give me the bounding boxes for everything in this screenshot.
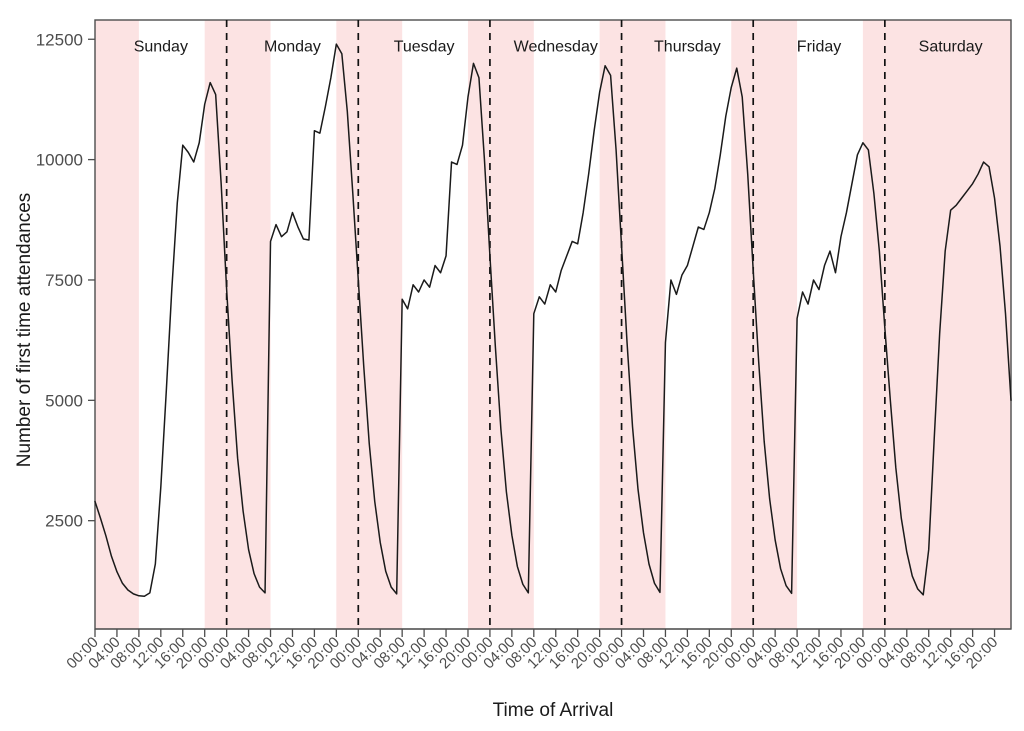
- night-shade-band: [336, 20, 402, 629]
- y-tick-label: 12500: [36, 30, 83, 49]
- y-tick-label: 10000: [36, 151, 83, 170]
- night-shade-band: [95, 20, 139, 629]
- night-shade-band: [205, 20, 271, 629]
- chart-svg: SundayMondayTuesdayWednesdayThursdayFrid…: [0, 0, 1024, 731]
- day-label: Thursday: [654, 38, 721, 55]
- y-axis-group: 2500500075001000012500: [36, 30, 95, 530]
- night-shade-band: [468, 20, 534, 629]
- x-axis-title: Time of Arrival: [493, 700, 614, 721]
- day-label: Wednesday: [514, 38, 598, 55]
- shaded-bands-group: [95, 20, 1011, 629]
- day-label: Tuesday: [394, 38, 455, 55]
- night-shade-band: [731, 20, 797, 629]
- night-shade-band: [600, 20, 666, 629]
- attendance-chart: SundayMondayTuesdayWednesdayThursdayFrid…: [0, 0, 1024, 731]
- y-axis-title: Number of first time attendances: [14, 193, 35, 468]
- x-axis-group: 00:0004:0008:0012:0016:0020:0000:0004:00…: [63, 629, 1011, 672]
- y-tick-label: 5000: [45, 391, 83, 410]
- day-label: Monday: [264, 38, 321, 55]
- day-label: Sunday: [134, 38, 188, 55]
- day-label: Saturday: [919, 38, 983, 55]
- y-tick-label: 7500: [45, 271, 83, 290]
- day-label: Friday: [797, 38, 841, 55]
- y-tick-label: 2500: [45, 512, 83, 531]
